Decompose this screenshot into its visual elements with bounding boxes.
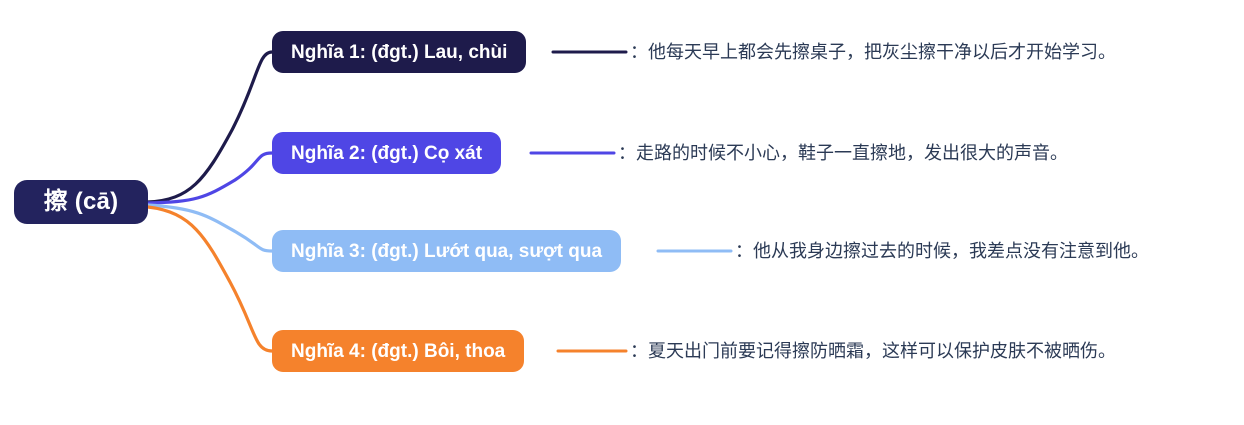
example-sentence-2: ：走路的时候不小心，鞋子一直擦地，发出很大的声音。: [618, 145, 1068, 163]
edge-curve-3: [148, 205, 272, 251]
edge-curve-4: [148, 207, 272, 351]
branch-node-2[interactable]: Nghĩa 2: (đgt.) Cọ xát: [272, 132, 501, 174]
edge-curve-1: [148, 52, 272, 202]
branch-node-1[interactable]: Nghĩa 1: (đgt.) Lau, chùi: [272, 31, 526, 73]
root-node[interactable]: 擦 (cā): [14, 180, 148, 224]
branch-node-3-label: Nghĩa 3: (đgt.) Lướt qua, sượt qua: [291, 242, 602, 261]
edge-curve-2: [148, 153, 272, 203]
branch-node-4-label: Nghĩa 4: (đgt.) Bôi, thoa: [291, 342, 505, 361]
branch-node-1-label: Nghĩa 1: (đgt.) Lau, chùi: [291, 43, 507, 62]
example-sentence-1: ：他每天早上都会先擦桌子，把灰尘擦干净以后才开始学习。: [630, 44, 1116, 62]
root-node-label: 擦 (cā): [44, 190, 119, 214]
branch-node-3[interactable]: Nghĩa 3: (đgt.) Lướt qua, sượt qua: [272, 230, 621, 272]
branch-node-4[interactable]: Nghĩa 4: (đgt.) Bôi, thoa: [272, 330, 524, 372]
example-sentence-4: ：夏天出门前要记得擦防晒霜，这样可以保护皮肤不被晒伤。: [630, 343, 1116, 361]
example-sentence-3: ：他从我身边擦过去的时候，我差点没有注意到他。: [735, 243, 1149, 261]
mindmap-canvas: 擦 (cā) Nghĩa 1: (đgt.) Lau, chùi ：他每天早上都…: [0, 0, 1244, 425]
branch-node-2-label: Nghĩa 2: (đgt.) Cọ xát: [291, 144, 482, 163]
